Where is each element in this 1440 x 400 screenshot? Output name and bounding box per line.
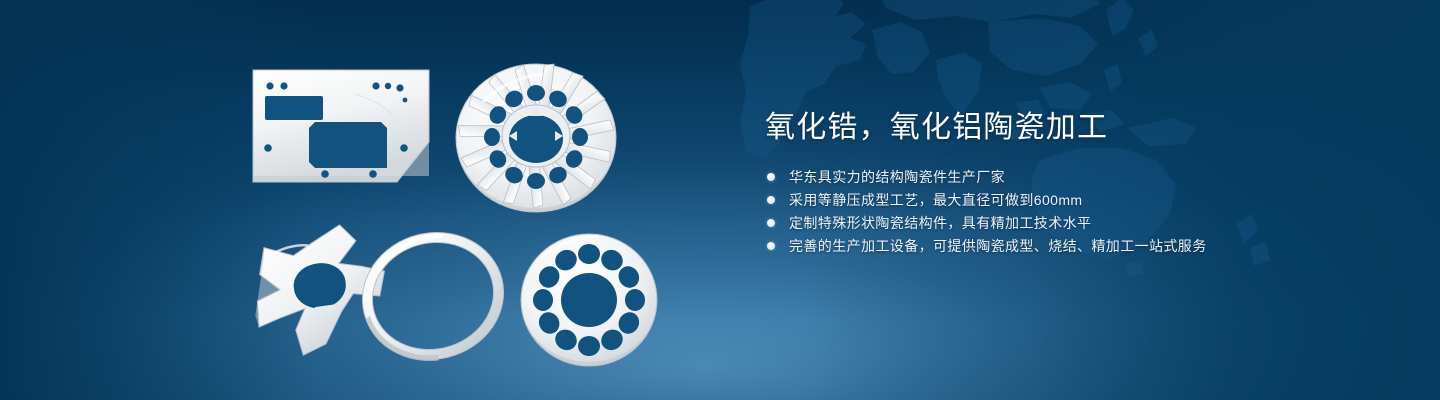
list-item-label: 完善的生产加工设备，可提供陶瓷成型、烧结、精加工一站式服务	[789, 238, 1207, 254]
product-ceramic-ring	[353, 226, 513, 366]
product-ceramic-plate	[247, 64, 437, 189]
hero-banner: 氧化锆，氧化铝陶瓷加工 华东具实力的结构陶瓷件生产厂家 采用等静压成型工艺，最大…	[0, 0, 1440, 400]
list-item: 定制特殊形状陶瓷结构件，具有精加工技术水平	[765, 214, 1365, 232]
product-photo-group	[225, 40, 705, 380]
bullet-dot-icon	[767, 173, 775, 181]
feature-list: 华东具实力的结构陶瓷件生产厂家 采用等静压成型工艺，最大直径可做到600mm 定…	[765, 168, 1365, 255]
list-item-label: 采用等静压成型工艺，最大直径可做到600mm	[789, 192, 1082, 208]
list-item: 华东具实力的结构陶瓷件生产厂家	[765, 168, 1365, 186]
page-title: 氧化锆，氧化铝陶瓷加工	[765, 108, 1365, 148]
bullet-dot-icon	[767, 196, 775, 204]
list-item: 采用等静压成型工艺，最大直径可做到600mm	[765, 191, 1365, 209]
banner-copy: 氧化锆，氧化铝陶瓷加工 华东具实力的结构陶瓷件生产厂家 采用等静压成型工艺，最大…	[765, 108, 1365, 260]
list-item: 完善的生产加工设备，可提供陶瓷成型、烧结、精加工一站式服务	[765, 237, 1365, 255]
bullet-dot-icon	[767, 219, 775, 227]
product-ceramic-perforated-disc	[515, 224, 665, 374]
list-item-label: 定制特殊形状陶瓷结构件，具有精加工技术水平	[789, 215, 1091, 231]
product-ceramic-impeller	[443, 40, 629, 226]
list-item-label: 华东具实力的结构陶瓷件生产厂家	[789, 169, 1005, 185]
bullet-dot-icon	[767, 242, 775, 250]
